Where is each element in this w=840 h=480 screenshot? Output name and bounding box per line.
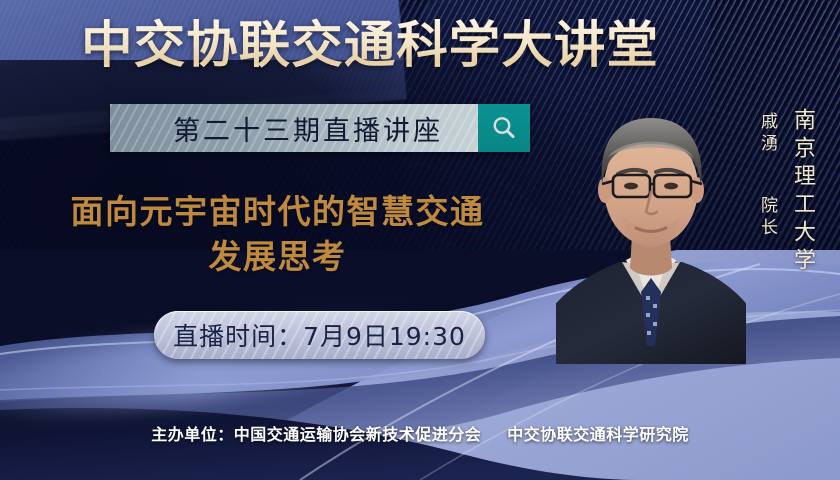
episode-bar[interactable]: 第二十三期直播讲座: [110, 104, 530, 152]
live-time-label: 直播时间：7月9日19:30: [173, 317, 466, 353]
footer-organizers: 主办单位：中国交通运输协会新技术促进分会中交协联交通科学研究院: [0, 421, 840, 445]
search-icon: [491, 115, 517, 141]
live-stream-poster: 中交协联交通科学大讲堂 第二十三期直播讲座 面向元宇宙时代的智慧交通 发展思考 …: [0, 0, 840, 480]
speaker-university: 南京理工大学: [786, 108, 818, 276]
footer-organizer-label: 主办单位：: [151, 425, 234, 444]
speaker-name: 戚湧: [755, 112, 780, 156]
main-title: 中交协联交通科学大讲堂: [0, 16, 751, 75]
topic-title: 面向元宇宙时代的智慧交通 发展思考: [0, 190, 555, 279]
speaker-role: 院长: [755, 196, 780, 240]
topic-line-1: 面向元宇宙时代的智慧交通: [71, 192, 485, 231]
search-icon-button[interactable]: [478, 104, 530, 152]
footer-organizer-1: 中国交通运输协会新技术促进分会: [234, 425, 482, 444]
topic-line-2: 发展思考: [0, 235, 555, 280]
footer-organizer-2: 中交协联交通科学研究院: [507, 425, 689, 444]
live-time-badge: 直播时间：7月9日19:30: [154, 311, 485, 359]
episode-bar-fill: 第二十三期直播讲座: [110, 104, 478, 152]
speaker-portrait: [556, 96, 746, 364]
episode-label: 第二十三期直播讲座: [145, 109, 443, 148]
